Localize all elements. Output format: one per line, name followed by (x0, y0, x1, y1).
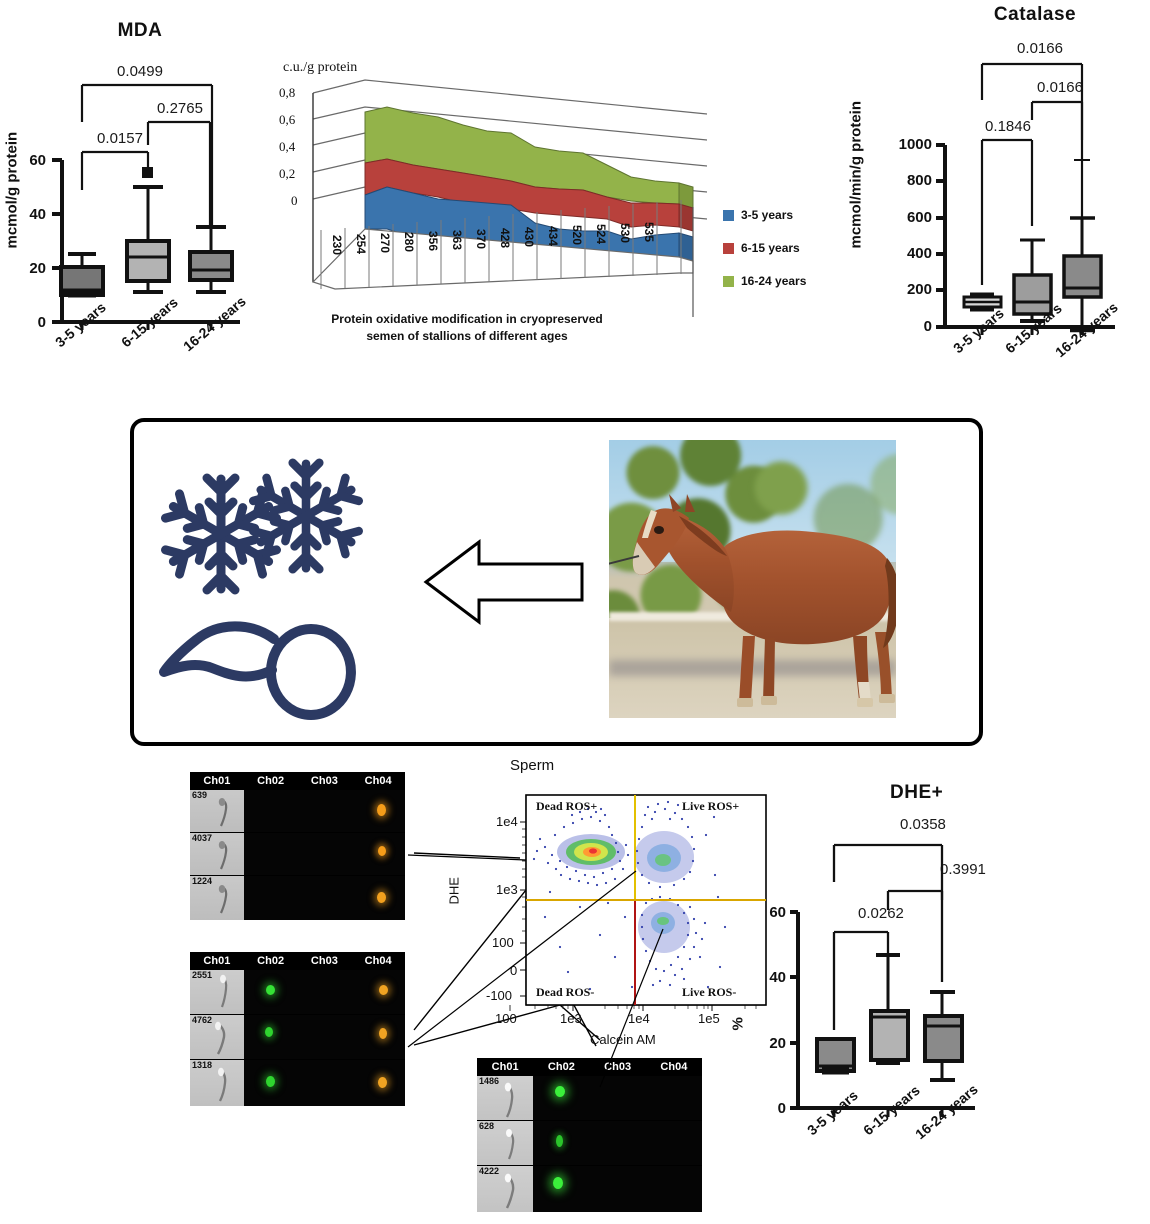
panel1-row0-id: 639 (192, 790, 207, 800)
left-arrow-icon (424, 537, 584, 627)
dhe-bracket-b-c (888, 891, 942, 910)
scatter-plot-area (460, 757, 790, 1057)
snowflake-and-sperm-icons (156, 454, 416, 704)
panel3-ch01-header: Ch01 (477, 1058, 533, 1076)
panel3-row-0: 1486 (477, 1076, 702, 1121)
area3d-category-9: 434 (546, 226, 560, 246)
panel1-ch01-header: Ch01 (190, 772, 244, 790)
legend-label-6-15-years: 6-15 years (741, 241, 800, 255)
panel1-row-1: 4037 (190, 833, 405, 876)
area3d-category-0: 230 (330, 235, 344, 255)
mda-ylabel: mcmol/g protein (4, 132, 21, 249)
dhe-box-3-5-years (817, 1039, 854, 1071)
mda-ytick-40: 40 (29, 206, 46, 223)
area3d-category-11: 524 (594, 224, 608, 244)
mda-box-3-5-years (61, 254, 103, 295)
dhe-plot (790, 760, 1150, 1224)
area3d-category-5: 363 (450, 230, 464, 250)
dhe-box-6-15-years (871, 955, 908, 1063)
panel3-row1-ch02-dot (556, 1135, 563, 1147)
mda-outlier (142, 167, 153, 178)
panel1-row2-ch04-dot (377, 892, 386, 903)
mda-ytick-0: 0 (38, 314, 46, 331)
catalase-panel: Catalase 0.0166 0.0166 0.1846 (860, 0, 1150, 400)
panel1-ch02-header: Ch02 (244, 772, 298, 790)
catalase-ytick-600: 600 (907, 209, 932, 226)
panel1-row1-id: 4037 (192, 833, 212, 843)
mda-bracket-a-b (82, 152, 148, 190)
dhe-ytick-20: 20 (769, 1035, 786, 1052)
dhe-ytick-0: 0 (778, 1100, 786, 1117)
area3d-category-10: 520 (570, 225, 584, 245)
panel3-row0-ch02-dot (555, 1086, 565, 1097)
imaging-panel-live-ros-minus: Ch01 Ch02 Ch03 Ch04 1486 628 4222 (477, 1058, 702, 1210)
panel1-ch04-header: Ch04 (351, 772, 405, 790)
panel3-row0-id: 1486 (479, 1076, 499, 1086)
panel2-ch03-header: Ch03 (298, 952, 352, 970)
catalase-ytick-200: 200 (907, 281, 932, 298)
area3d-categories: 230 254 270 280 356 363 370 428 430 434 … (275, 55, 715, 295)
catalase-ytick-1000: 1000 (899, 136, 932, 153)
catalase-bracket-a-b (982, 140, 1032, 285)
panel3-row-1: 628 (477, 1121, 702, 1166)
dhe-panel: DHE+ 0.0358 0.3991 0.0262 (790, 760, 1150, 1224)
area3d-category-12: 530 (618, 223, 632, 243)
panel1-row0-ch04-dot (377, 804, 386, 816)
mda-box-6-15-years (127, 167, 169, 292)
dhe-box-16-24-years (925, 992, 962, 1080)
protein-oxidative-area-panel: c.u./g protein (275, 55, 715, 395)
panel2-row-1: 4762 (190, 1015, 405, 1060)
panel2-row1-ch02-dot (265, 1027, 273, 1037)
sperm-scatter-panel: Sperm DHE Calcein AM 1e4 1e3 100 0 -100 … (460, 757, 790, 1057)
panel2-row2-ch04-dot (378, 1077, 387, 1088)
panel2-row1-ch04-dot (379, 1028, 387, 1039)
catalase-ytick-400: 400 (907, 245, 932, 262)
panel1-row-0: 639 (190, 790, 405, 833)
legend-label-3-5-years: 3-5 years (741, 208, 793, 222)
catalase-bracket-b-c (1032, 102, 1082, 140)
quadrant-label-live-ros-minus: Live ROS- (682, 985, 736, 1000)
dhe-ylabel: % (730, 1017, 747, 1030)
panel1-row1-ch04-dot (378, 846, 386, 856)
panel1-ch03-header: Ch03 (298, 772, 352, 790)
area3d-caption: Protein oxidative modification in cryopr… (287, 311, 647, 346)
horse-photo (609, 440, 896, 718)
quadrant-label-dead-ros-plus: Dead ROS+ (536, 799, 597, 814)
panel2-ch01-header: Ch01 (190, 952, 244, 970)
legend-swatch-16-24-years (723, 276, 734, 287)
catalase-ytick-800: 800 (907, 172, 932, 189)
panel2-row0-ch02-dot (266, 985, 275, 995)
mda-ytick-60: 60 (29, 152, 46, 169)
legend-swatch-6-15-years (723, 243, 734, 254)
panel3-row-2: 4222 (477, 1166, 702, 1212)
dhe-ytick-60: 60 (769, 904, 786, 921)
catalase-ytick-0: 0 (924, 318, 932, 335)
sperm-icon (164, 626, 351, 715)
legend-label-16-24-years: 16-24 years (741, 274, 806, 288)
area3d-category-4: 356 (426, 231, 440, 251)
mda-bracket-b-c (148, 122, 210, 225)
panel3-ch03-header: Ch03 (590, 1058, 646, 1076)
quadrant-label-live-ros-plus: Live ROS+ (682, 799, 739, 814)
cluster-dead-ros-plus (557, 834, 625, 870)
catalase-ylabel: mcmol/min/g protein (848, 101, 865, 249)
area3d-category-7: 428 (498, 228, 512, 248)
area3d-category-3: 280 (402, 232, 416, 252)
panel2-row0-ch04-dot (379, 985, 388, 995)
panel2-row2-id: 1318 (192, 1060, 212, 1070)
area3d-category-8: 430 (522, 227, 536, 247)
cluster-live-ros-minus (638, 901, 690, 953)
dhe-ytick-40: 40 (769, 969, 786, 986)
panel3-row2-ch02-dot (553, 1177, 563, 1189)
panel2-row-0: 2551 (190, 970, 405, 1015)
legend-swatch-3-5-years (723, 210, 734, 221)
area3d-legend: 3-5 years 6-15 years 16-24 years (723, 208, 806, 288)
panel2-ch02-header: Ch02 (244, 952, 298, 970)
panel1-row-2: 1224 (190, 876, 405, 920)
mda-panel: MDA 0.0499 0.2765 0.0157 (0, 0, 290, 395)
panel2-row0-id: 2551 (192, 970, 212, 980)
area3d-category-13: 535 (642, 222, 656, 242)
imaging-panel-live-ros-plus: Ch01 Ch02 Ch03 Ch04 2551 4762 1318 (190, 952, 405, 1104)
panel2-row-2: 1318 (190, 1060, 405, 1106)
area3d-caption-line1: Protein oxidative modification in cryopr… (287, 311, 647, 328)
panel3-ch02-header: Ch02 (533, 1058, 589, 1076)
area3d-category-1: 254 (354, 234, 368, 254)
mda-box-16-24-years (190, 227, 232, 292)
panel3-row1-id: 628 (479, 1121, 494, 1131)
area3d-category-6: 370 (474, 229, 488, 249)
panel2-ch04-header: Ch04 (351, 952, 405, 970)
mda-ytick-20: 20 (29, 260, 46, 277)
cryo-concept-box (130, 418, 983, 746)
panel1-row2-id: 1224 (192, 876, 212, 886)
panel3-ch04-header: Ch04 (646, 1058, 702, 1076)
imaging-panel-dead-ros-plus: Ch01 Ch02 Ch03 Ch04 639 4037 1224 (190, 772, 405, 920)
panel3-row2-id: 4222 (479, 1166, 499, 1176)
quadrant-label-dead-ros-minus: Dead ROS- (536, 985, 594, 1000)
area3d-category-2: 270 (378, 233, 392, 253)
area3d-caption-line2: semen of stallions of different ages (287, 328, 647, 345)
panel2-row2-ch02-dot (266, 1076, 275, 1087)
